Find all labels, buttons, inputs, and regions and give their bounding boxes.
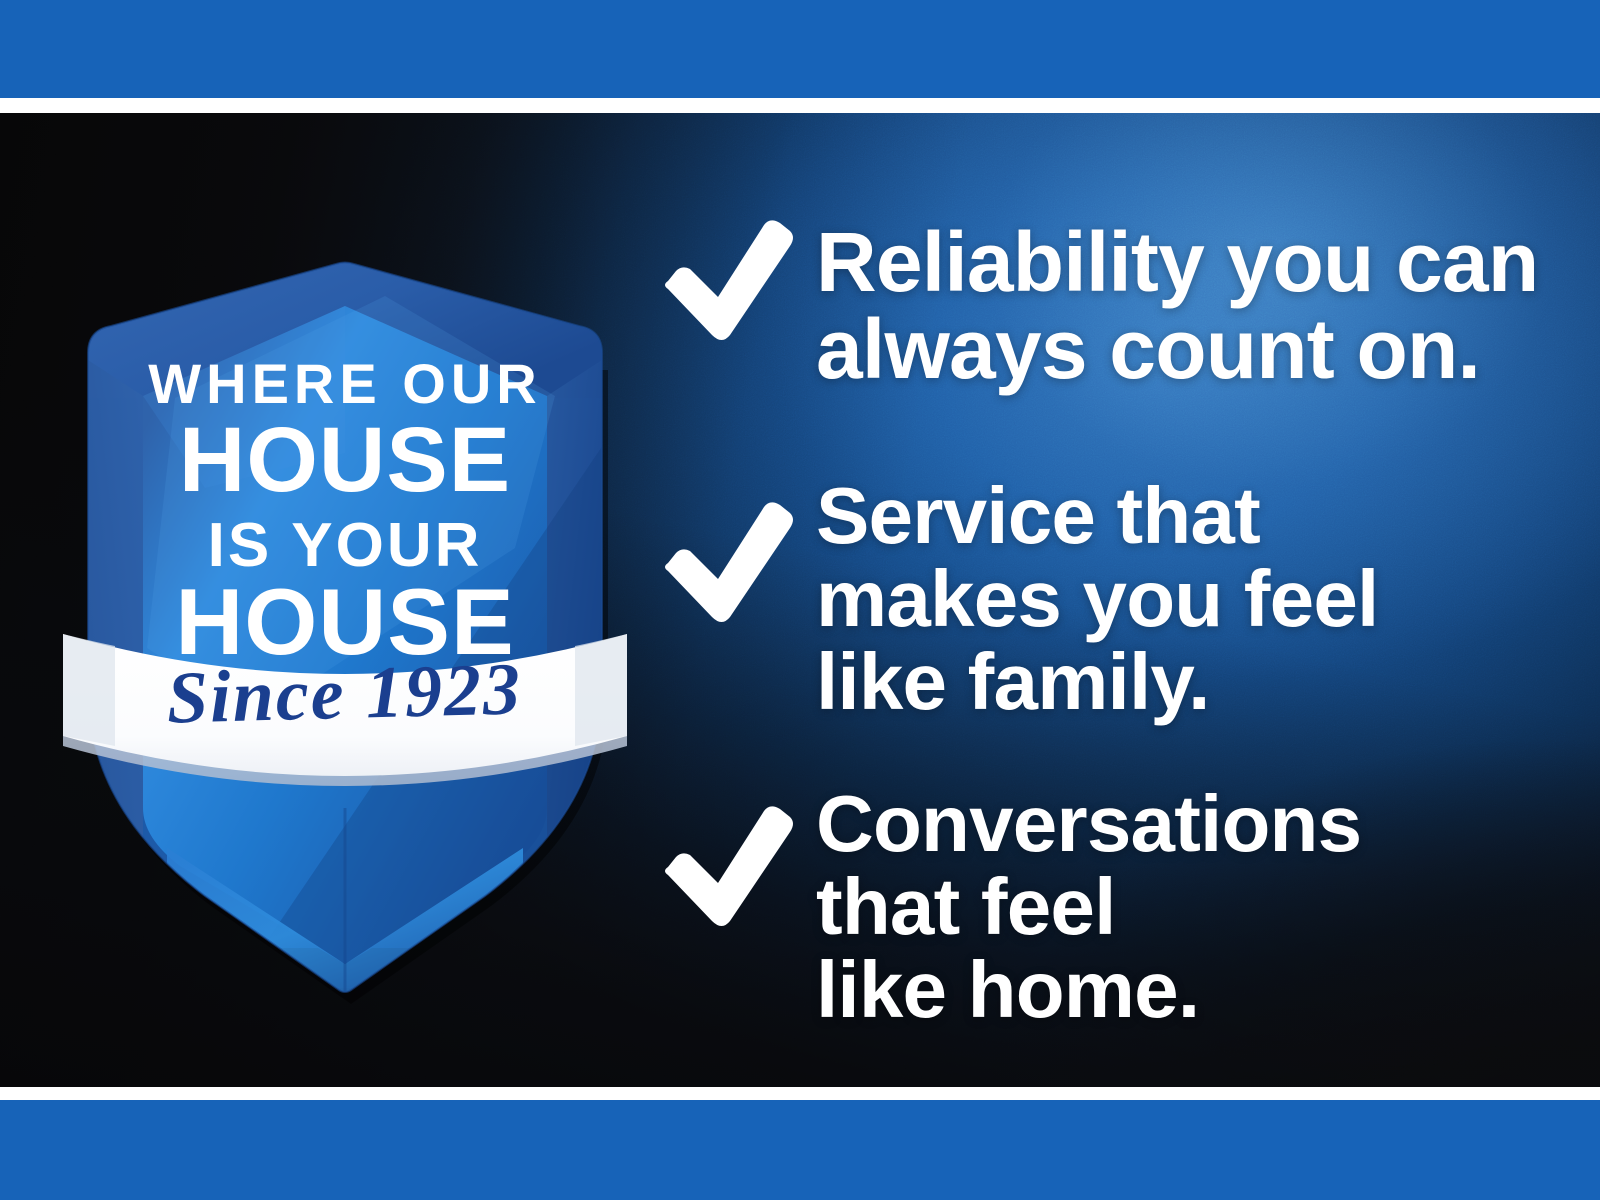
shield-badge: WHERE OUR HOUSE IS YOUR HOUSE Since 1923 [55,248,635,948]
value-point-3-line-1: Conversations [816,783,1540,866]
bottom-white-divider [0,1087,1600,1100]
value-point-3-line-3: like home. [816,949,1540,1032]
value-point-2-text: Service that makes you feel like family. [816,475,1540,723]
value-point-3-text: Conversations that feel like home. [816,783,1540,1031]
tagline-line-1: WHERE OUR [148,352,541,415]
top-brand-bar [0,0,1600,98]
shield-bevel-left [88,360,143,868]
ribbon-fold-left [63,634,115,746]
value-points-list: Reliability you can always count on. Ser… [660,113,1540,1087]
value-point-2-line-1: Service that [816,475,1540,558]
check-icon [660,501,798,625]
value-point-2-line-3: like family. [816,641,1540,724]
ribbon-fold-right [575,634,627,746]
value-point-2: Service that makes you feel like family. [660,475,1540,723]
ribbon-since-text: Since 1923 [166,648,523,739]
top-white-divider [0,98,1600,113]
tagline-line-2: HOUSE [179,409,511,511]
value-point-2-line-2: makes you feel [816,558,1540,641]
check-icon [660,219,798,343]
check-icon [660,805,798,929]
value-point-1-line-2: always count on. [816,306,1540,393]
poster-canvas: WHERE OUR HOUSE IS YOUR HOUSE Since 1923 [0,0,1600,1200]
value-point-3: Conversations that feel like home. [660,783,1540,1031]
value-point-1-text: Reliability you can always count on. [816,219,1540,393]
value-point-1: Reliability you can always count on. [660,219,1540,393]
value-point-3-line-2: that feel [816,866,1540,949]
shield-ribbon: Since 1923 [63,634,627,786]
value-point-1-line-1: Reliability you can [816,219,1540,306]
bottom-brand-bar [0,1100,1600,1200]
